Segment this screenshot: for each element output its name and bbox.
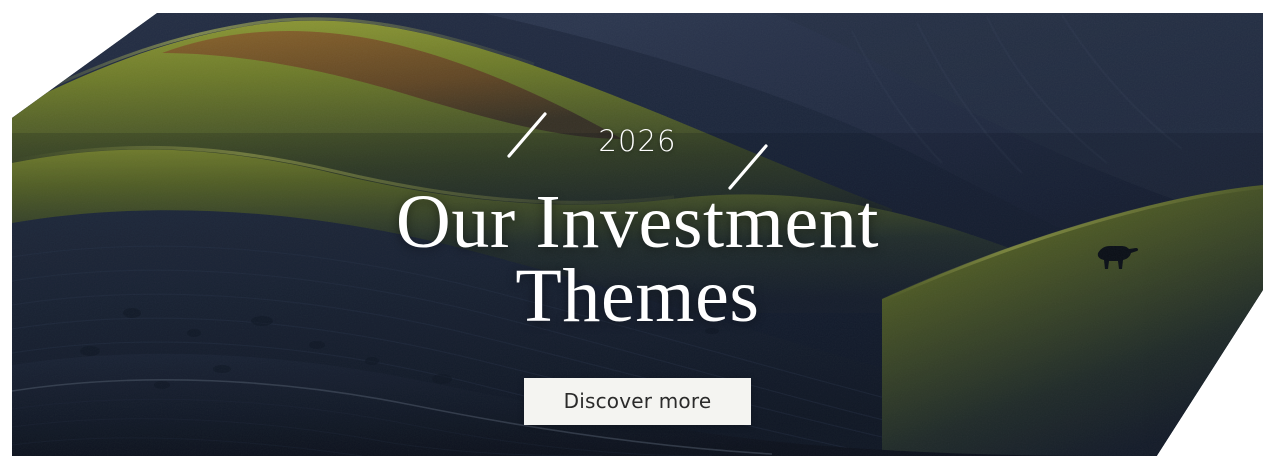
hero-cta-wrapper: Discover more (12, 378, 1263, 425)
discover-more-button[interactable]: Discover more (524, 378, 752, 425)
hero-image-panel: 2026 Our Investment Themes Discover more (12, 13, 1263, 456)
hero-banner-slide: 2026 Our Investment Themes Discover more (0, 0, 1280, 473)
